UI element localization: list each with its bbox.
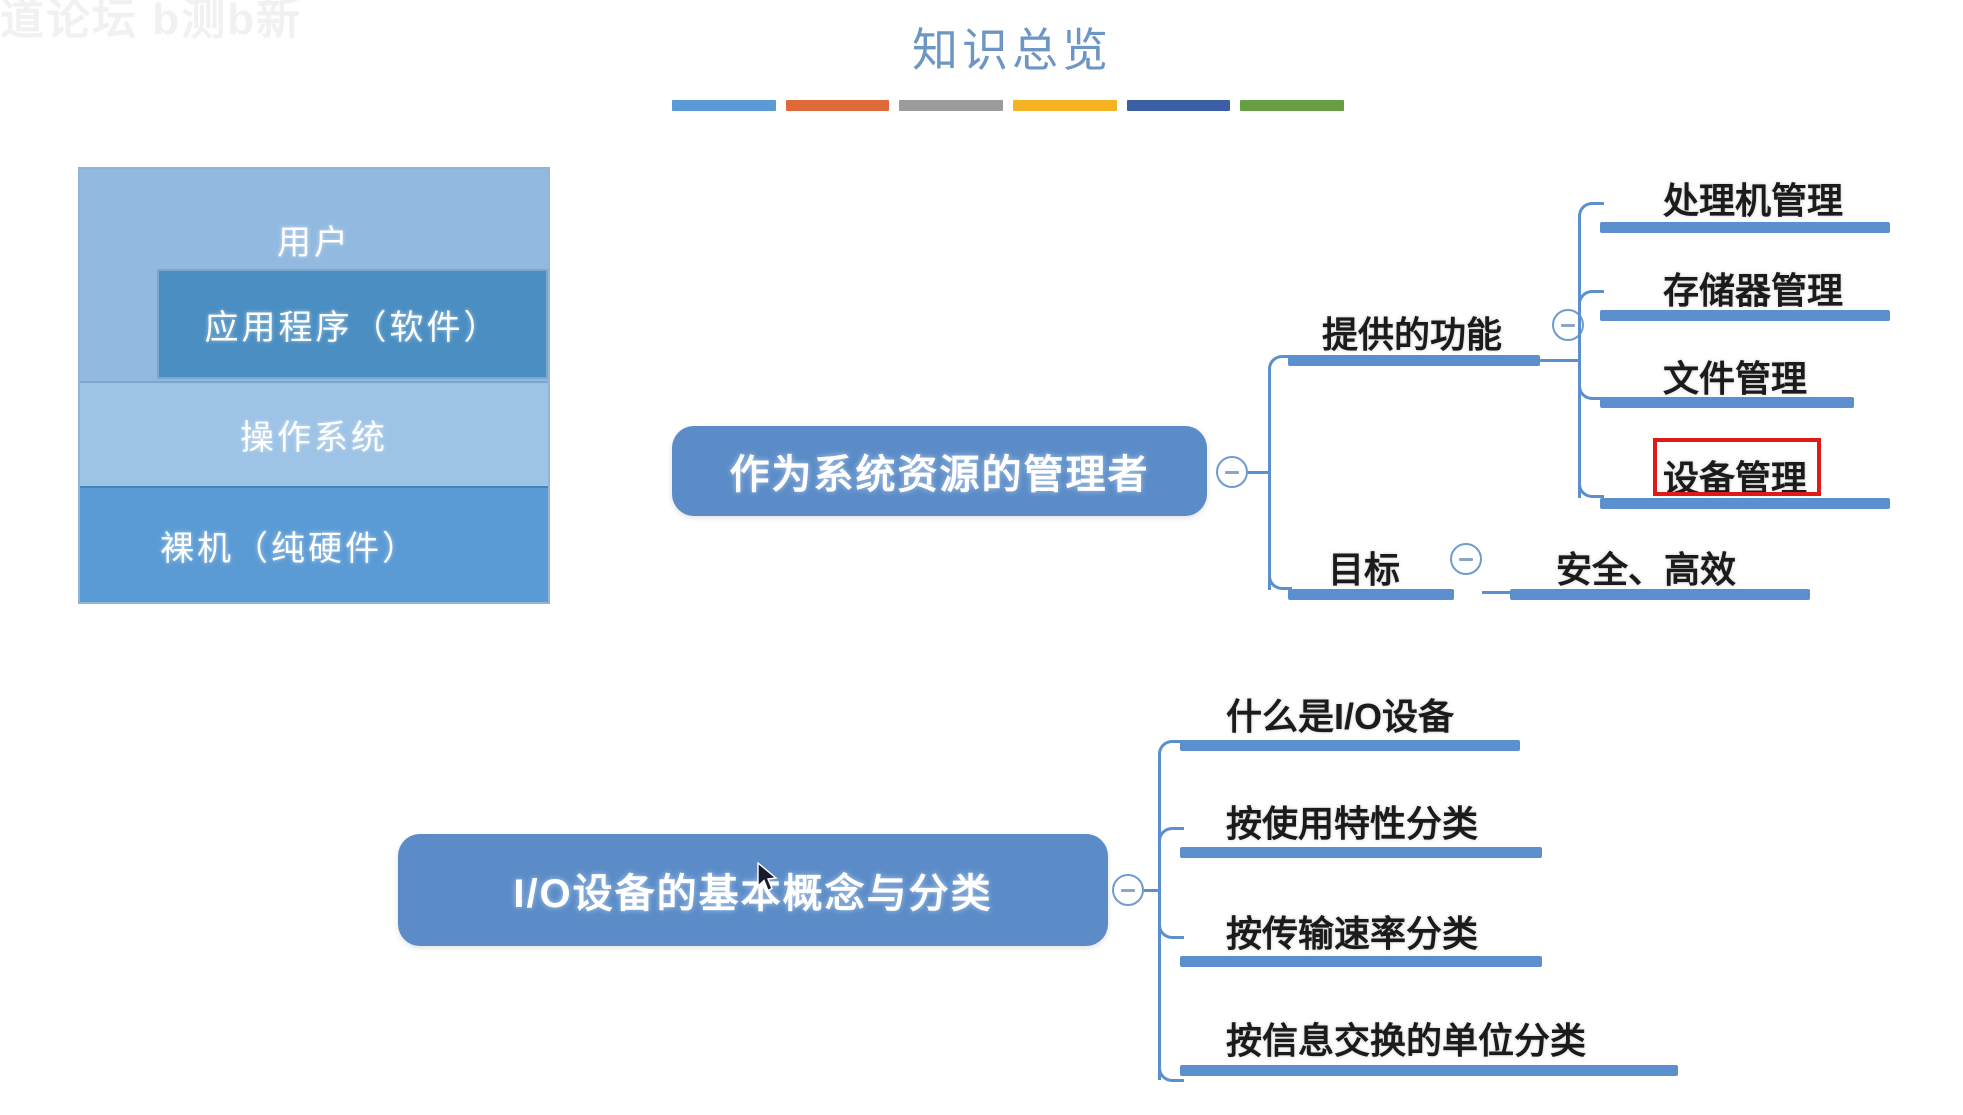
connector-bottom-corner-transfer-rate	[1158, 915, 1184, 939]
title-accent-bars	[672, 100, 1344, 114]
mindmap-node-classify-by-exchange-unit[interactable]: 按信息交换的单位分类	[1226, 1012, 1586, 1064]
underline-provided-functions	[1288, 355, 1540, 366]
mindmap-node-processor-management[interactable]: 处理机管理	[1663, 172, 1843, 224]
underline-device-management	[1600, 498, 1890, 509]
stack-layer-operating-system: 操作系统	[80, 381, 548, 486]
underline-goal	[1288, 589, 1454, 600]
underline-safe-efficient	[1510, 589, 1810, 600]
mindmap-bottom-root-node[interactable]: I/O设备的基本概念与分类	[398, 834, 1108, 946]
connector-subspine-corner-device	[1578, 474, 1604, 498]
connector-spine-top	[1268, 375, 1271, 590]
stack-layer-bare-machine: 裸机（纯硬件）	[80, 486, 548, 602]
connector-root-to-spine-top	[1248, 471, 1270, 474]
underline-processor-management	[1600, 222, 1890, 233]
underline-classify-by-usage	[1180, 847, 1542, 858]
underline-file-management	[1600, 397, 1854, 408]
collapse-minus-icon-top-root[interactable]	[1216, 456, 1248, 488]
title-bar-navy	[1127, 100, 1231, 111]
connector-spine-corner-top-lower	[1268, 566, 1292, 590]
highlight-box-device-management	[1653, 438, 1821, 496]
connector-subspine-functions	[1578, 222, 1581, 498]
underline-what-is-io-device	[1180, 740, 1520, 751]
stack-layer-application: 应用程序（软件）	[157, 269, 548, 379]
title-bar-amber	[1013, 100, 1117, 111]
watermark-text: 道论坛 b测b新	[0, 0, 330, 46]
mindmap-node-goal[interactable]: 目标	[1328, 541, 1400, 593]
mindmap-top-root-node[interactable]: 作为系统资源的管理者	[672, 426, 1207, 516]
mindmap-node-what-is-io-device[interactable]: 什么是I/O设备	[1226, 688, 1454, 740]
title-bar-green	[1240, 100, 1344, 111]
mindmap-node-classify-by-transfer-rate[interactable]: 按传输速率分类	[1226, 905, 1478, 957]
mindmap-node-safe-efficient[interactable]: 安全、高效	[1556, 541, 1736, 593]
connector-functions-to-subspine	[1552, 359, 1580, 362]
title-bar-orange	[786, 100, 890, 111]
slide-canvas: 道论坛 b测b新 知识总览 用户 应用程序（软件） 操作系统 裸机（纯硬件） 作…	[0, 0, 1963, 1115]
title-bar-blue	[672, 100, 776, 111]
os-layer-diagram: 用户 应用程序（软件） 操作系统 裸机（纯硬件）	[78, 167, 550, 604]
mindmap-node-classify-by-usage[interactable]: 按使用特性分类	[1226, 795, 1478, 847]
mindmap-node-memory-management[interactable]: 存储器管理	[1663, 262, 1843, 314]
page-title: 知识总览	[862, 14, 1162, 80]
mindmap-node-file-management[interactable]: 文件管理	[1663, 350, 1807, 402]
mindmap-node-provided-functions[interactable]: 提供的功能	[1322, 306, 1502, 358]
title-bar-gray	[899, 100, 1003, 111]
underline-classify-by-transfer-rate	[1180, 956, 1542, 967]
collapse-minus-icon-goal[interactable]	[1450, 543, 1482, 575]
collapse-minus-icon-bottom-root[interactable]	[1112, 874, 1144, 906]
connector-goal-to-child	[1482, 591, 1512, 594]
underline-classify-by-exchange-unit	[1180, 1065, 1678, 1076]
underline-memory-management	[1600, 310, 1890, 321]
